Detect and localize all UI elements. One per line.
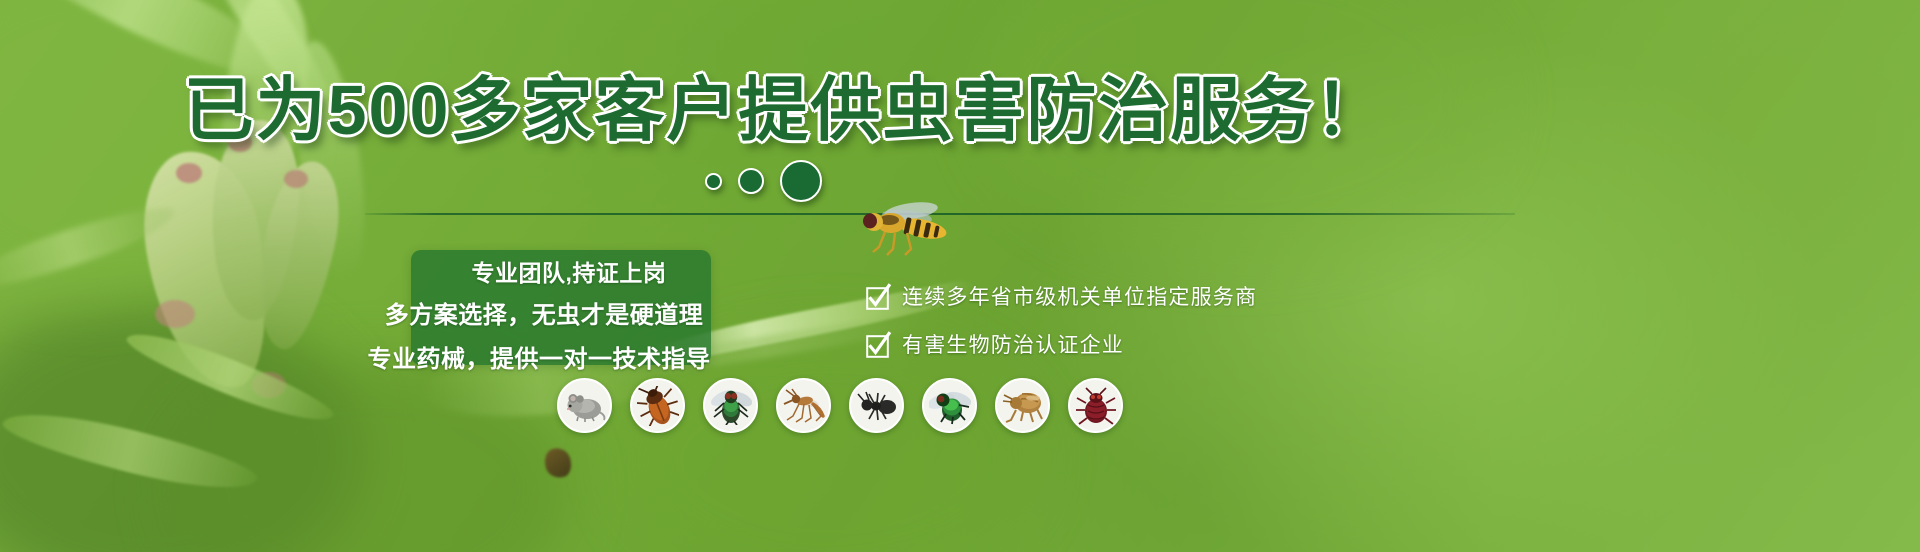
checkbox-checked-icon (866, 335, 889, 358)
page-title: 已为500多家客户提供虫害防治服务！ (0, 74, 1570, 146)
mosquito-icon (776, 378, 831, 433)
checklist-item-label: 连续多年省市级机关单位指定服务商 (902, 286, 1257, 310)
checklist-item-label: 有害生物防治认证企业 (902, 334, 1124, 358)
checkbox-checked-icon (866, 287, 889, 310)
mouse-icon (557, 378, 612, 433)
dot-medium-icon (738, 168, 764, 194)
pest-control-banner: 已为500多家客户提供虫害防治服务！ (0, 0, 1920, 552)
card-line-3: 专业药械，提供一对一技术指导 (335, 344, 735, 376)
housefly-icon (703, 378, 758, 433)
checklist-item: 有害生物防治认证企业 (866, 322, 1386, 370)
cockroach-icon (630, 378, 685, 433)
greenbottle-fly-icon (922, 378, 977, 433)
card-line-1: 专业团队,持证上岗 (335, 258, 735, 288)
checklist: 连续多年省市级机关单位指定服务商 有害生物防治认证企业 (866, 274, 1386, 370)
pest-icon-row (557, 378, 1123, 433)
highlights-card-text: 专业团队,持证上岗 多方案选择，无虫才是硬道理 专业药械，提供一对一技术指导 (335, 258, 735, 376)
dot-large-icon (780, 160, 822, 202)
hoverfly-icon (845, 195, 965, 265)
checklist-item: 连续多年省市级机关单位指定服务商 (866, 274, 1386, 322)
dot-small-icon (705, 173, 722, 190)
card-line-2: 多方案选择，无虫才是硬道理 (335, 300, 735, 332)
bedbug-icon (1068, 378, 1123, 433)
flea-icon (995, 378, 1050, 433)
ant-icon (849, 378, 904, 433)
